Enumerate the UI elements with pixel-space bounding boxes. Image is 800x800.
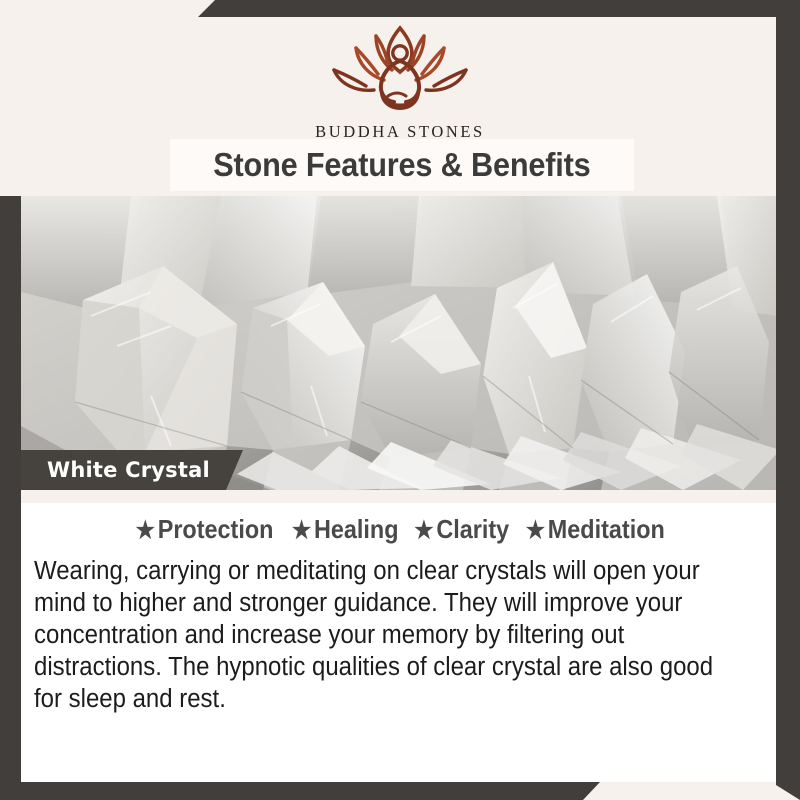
- benefit-label-1: Healing: [314, 514, 399, 544]
- star-icon: ★: [526, 517, 545, 544]
- benefit-item-2: ★Clarity: [414, 514, 509, 545]
- benefit-label-2: Clarity: [436, 514, 509, 544]
- benefit-item-0: ★Protection: [136, 514, 274, 545]
- lotus-meditation-icon: [0, 22, 800, 119]
- stone-name-label: White Crystal: [47, 458, 210, 482]
- content-panel: ★Protection ★Healing ★Clarity ★Meditatio…: [21, 503, 780, 782]
- stone-name-banner: White Crystal: [21, 450, 243, 490]
- crystal-photo: [21, 196, 780, 490]
- star-icon: ★: [414, 517, 433, 544]
- frame-edge-right: [776, 0, 800, 800]
- page-title: Stone Features & Benefits: [213, 146, 590, 184]
- frame-edge-left: [0, 196, 21, 800]
- frame-edge-bottom: [0, 782, 800, 800]
- benefit-item-3: ★Meditation: [526, 514, 665, 545]
- brand-logo: BUDDHA STONES: [0, 22, 800, 142]
- title-band: Stone Features & Benefits: [170, 139, 634, 191]
- star-icon: ★: [136, 517, 155, 544]
- benefits-row: ★Protection ★Healing ★Clarity ★Meditatio…: [21, 514, 780, 545]
- benefit-item-1: ★Healing: [292, 514, 399, 545]
- star-icon: ★: [292, 517, 311, 544]
- benefit-label-0: Protection: [158, 514, 274, 544]
- cream-separator: [21, 490, 780, 503]
- description-text: Wearing, carrying or meditating on clear…: [34, 555, 726, 715]
- poster-root: BUDDHA STONES Stone Features & Benefits: [0, 0, 800, 800]
- benefit-label-3: Meditation: [548, 514, 665, 544]
